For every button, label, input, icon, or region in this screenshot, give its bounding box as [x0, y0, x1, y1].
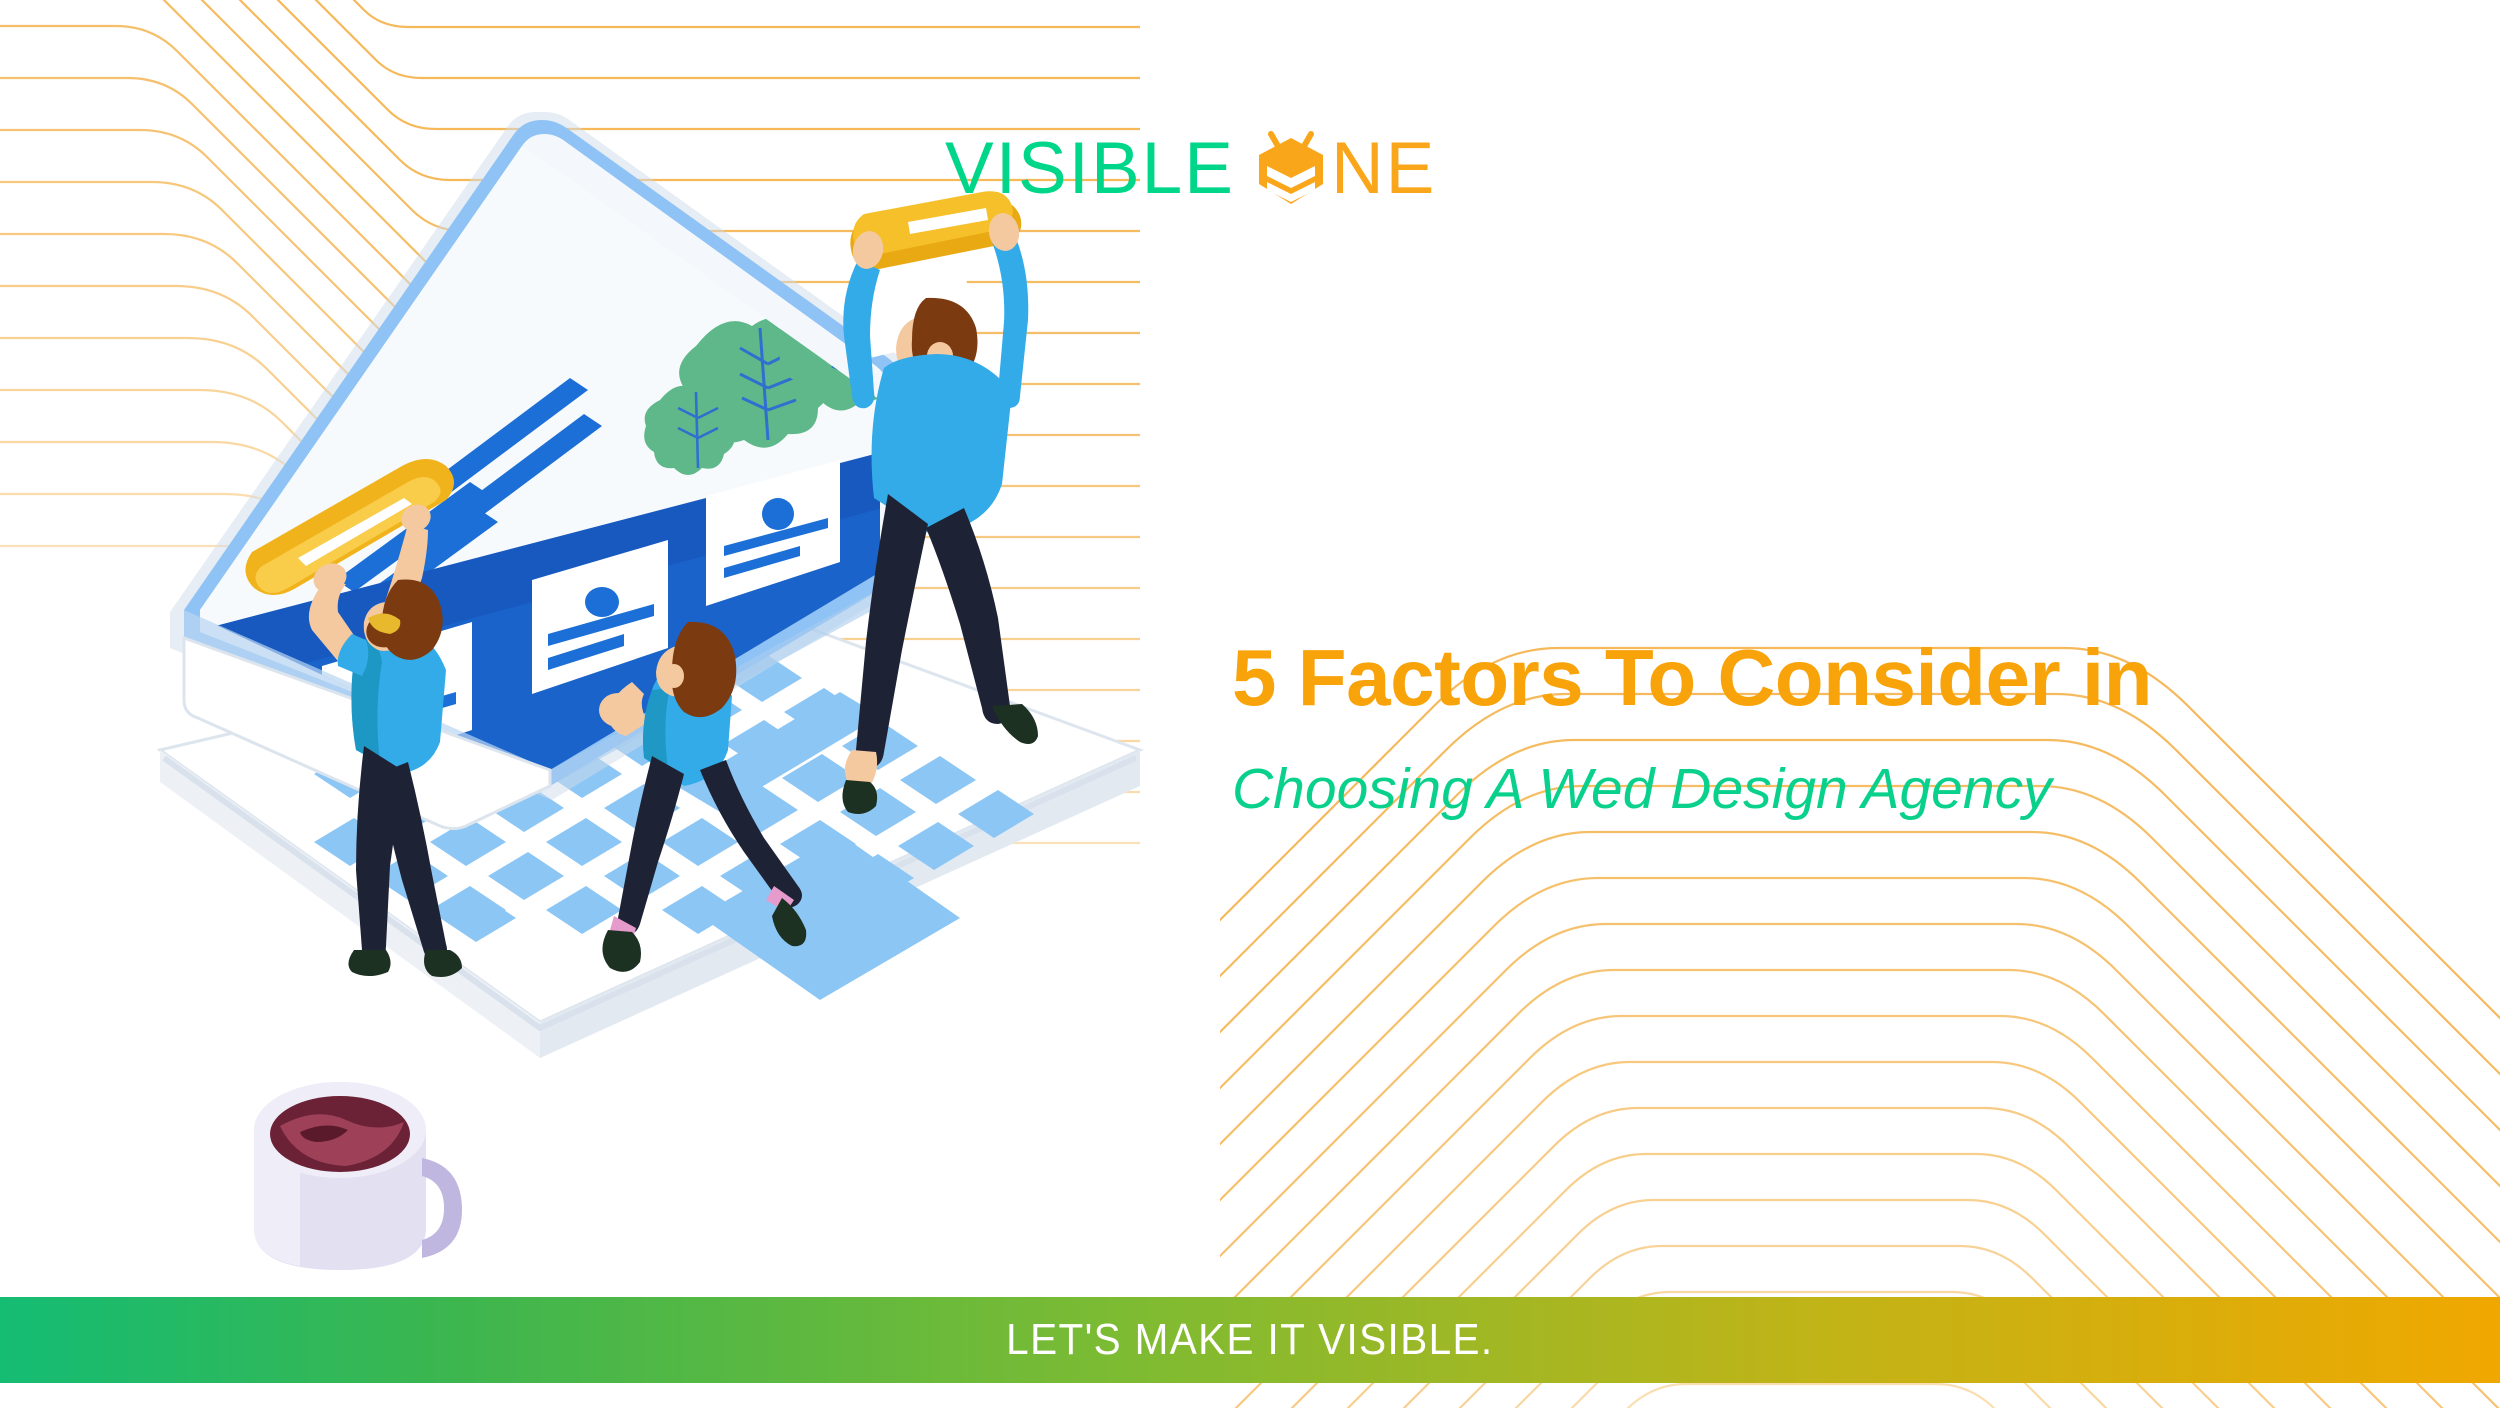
slide-canvas: VISIBLE NE 5 Factors To Consider in Choo… — [0, 0, 2500, 1408]
logo-wordmark-ne: NE — [1331, 132, 1436, 205]
footer-tagline: LET'S MAKE IT VISIBLE. — [1006, 1315, 1493, 1365]
logo-wordmark-visible: VISIBLE — [945, 132, 1235, 205]
page-subtitle: Choosing A Wed Design Agency — [1232, 760, 2412, 820]
footer-gradient-bar: LET'S MAKE IT VISIBLE. — [0, 1297, 2500, 1383]
brand-logo[interactable]: VISIBLE NE — [945, 125, 1436, 211]
headline-block: 5 Factors To Consider in Choosing A Wed … — [1232, 636, 2412, 820]
hero-illustration — [140, 110, 1260, 1270]
bee-hexagon-icon — [1253, 128, 1329, 208]
page-title: 5 Factors To Consider in — [1232, 636, 2412, 720]
